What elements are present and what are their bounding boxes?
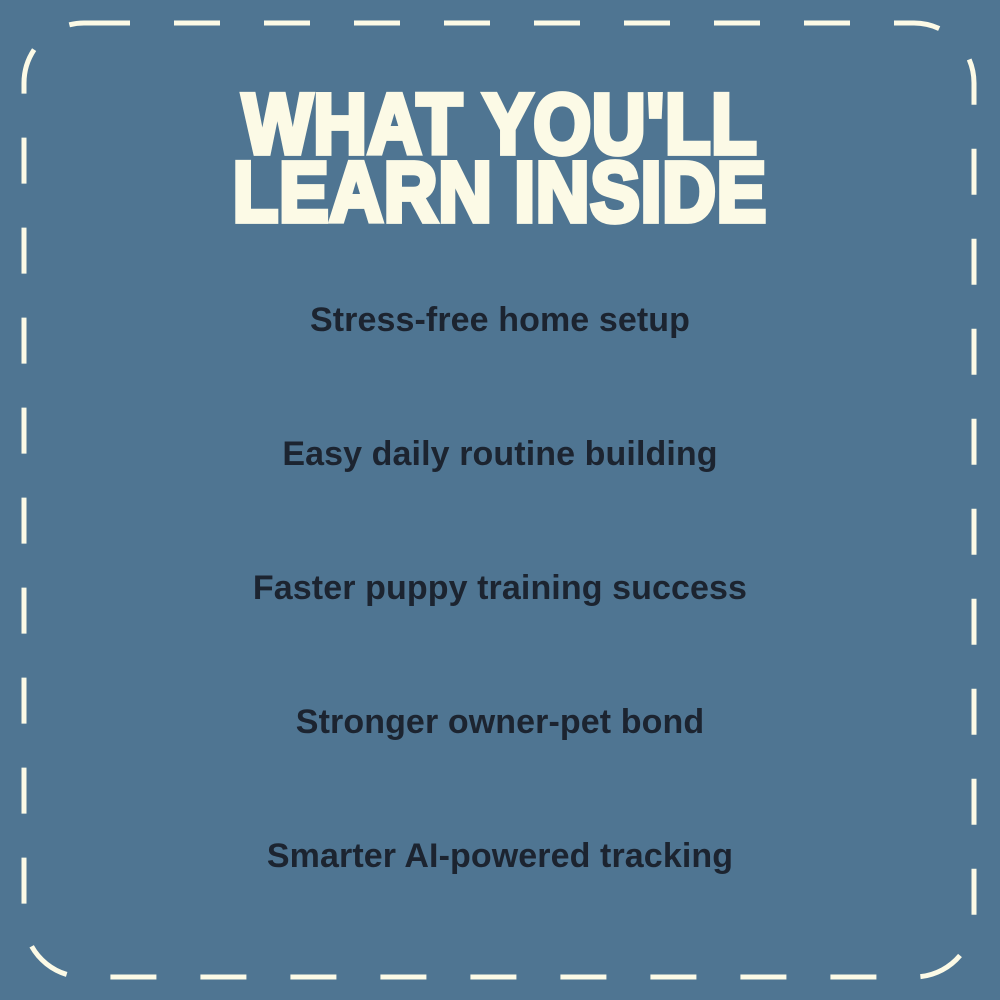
promo-poster: WHAT YOU'LL LEARN INSIDE Stress-free hom…	[0, 0, 1000, 1000]
list-item: Faster puppy training success	[0, 564, 1000, 698]
list-item: Stronger owner-pet bond	[0, 698, 1000, 832]
page-title: WHAT YOU'LL LEARN INSIDE	[0, 88, 1000, 219]
page-title-line-2: LEARN INSIDE	[0, 156, 1000, 229]
list-item: Stress-free home setup	[0, 296, 1000, 430]
list-item: Easy daily routine building	[0, 430, 1000, 564]
benefit-list: Stress-free home setup Easy daily routin…	[0, 296, 1000, 966]
list-item: Smarter AI-powered tracking	[0, 832, 1000, 966]
